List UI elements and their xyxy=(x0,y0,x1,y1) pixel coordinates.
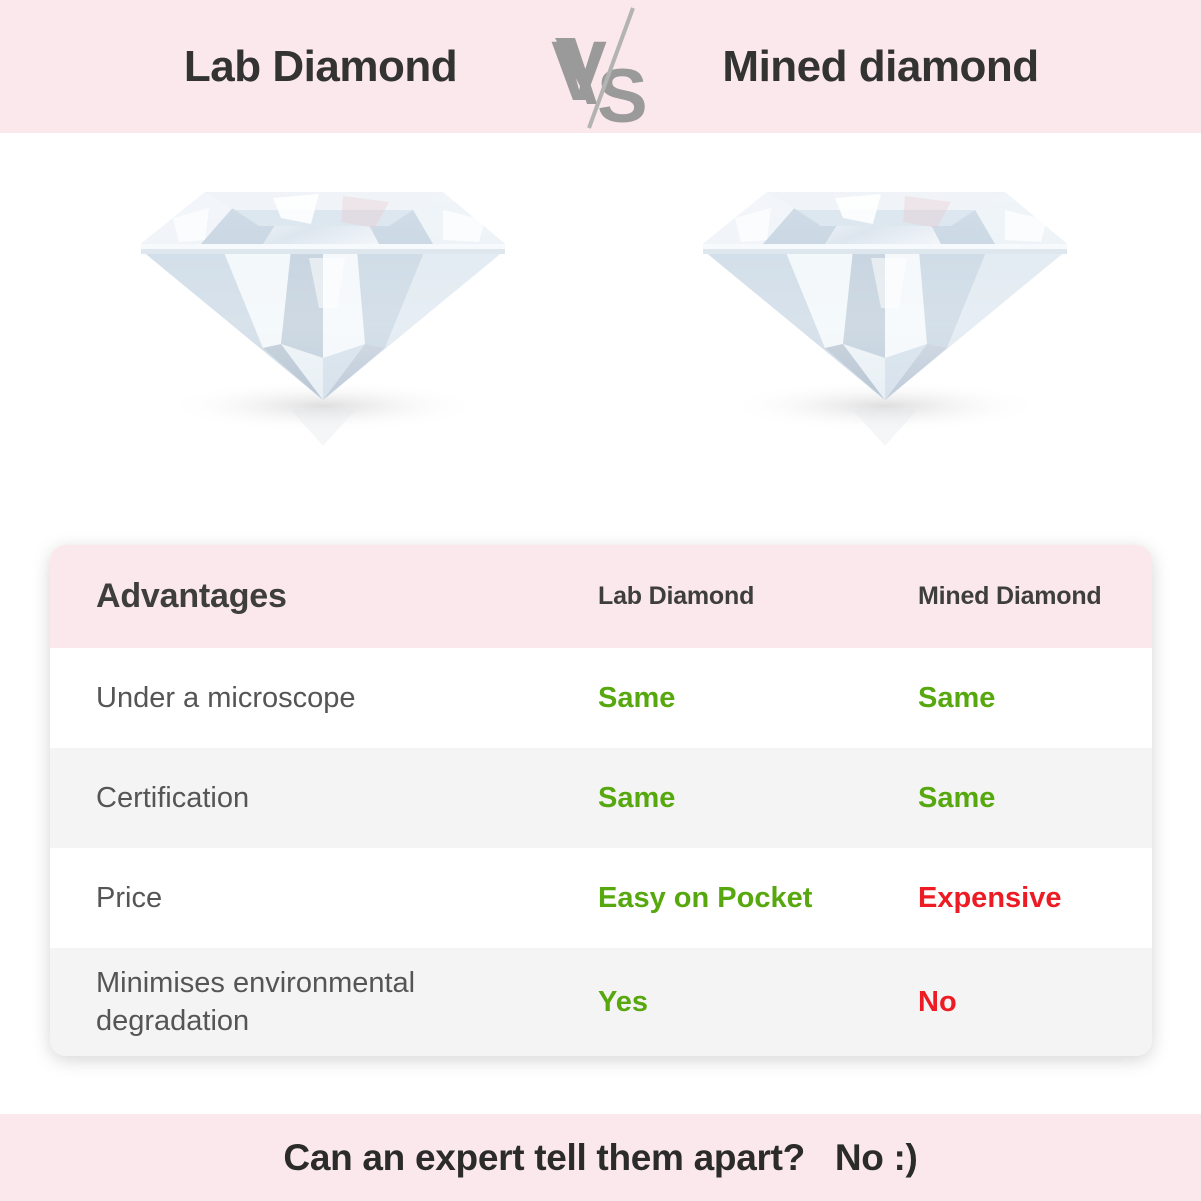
footer-question: Can an expert tell them apart? No :) xyxy=(283,1137,917,1179)
row-feature-label: Minimises environmental degradation xyxy=(50,964,541,1041)
row-mined-value: Same xyxy=(872,782,1152,815)
table-row: Minimises environmental degradation Yes … xyxy=(50,948,1152,1056)
svg-text:S: S xyxy=(597,54,648,133)
row-mined-value: Same xyxy=(872,682,1152,715)
row-mined-value: Expensive xyxy=(872,882,1152,915)
table-row: Price Easy on Pocket Expensive xyxy=(50,848,1152,948)
comparison-table: Advantages Lab Diamond Mined Diamond Und… xyxy=(50,545,1152,1056)
row-lab-value: Same xyxy=(541,682,872,715)
footer-band: Can an expert tell them apart? No :) xyxy=(0,1114,1201,1201)
table-row: Under a microscope Same Same xyxy=(50,648,1152,748)
infographic-page: Lab Diamond V S Mined diamond xyxy=(0,0,1201,1201)
table-header-row: Advantages Lab Diamond Mined Diamond xyxy=(50,545,1152,648)
column-header-mined-diamond: Mined Diamond xyxy=(872,582,1152,611)
row-feature-label: Certification xyxy=(50,779,541,817)
page-title-lab-diamond: Lab Diamond xyxy=(101,42,541,92)
row-mined-value: No xyxy=(872,986,1152,1019)
diamond-image-area xyxy=(0,133,1201,533)
row-lab-value: Same xyxy=(541,782,872,815)
row-lab-value: Yes xyxy=(541,986,872,1019)
lab-diamond-image xyxy=(113,158,533,468)
row-feature-label: Under a microscope xyxy=(50,679,541,717)
column-header-lab-diamond: Lab Diamond xyxy=(541,582,872,611)
header-band: Lab Diamond V S Mined diamond xyxy=(0,0,1201,133)
versus-icon: V S xyxy=(541,0,661,133)
row-feature-label: Price xyxy=(50,879,541,917)
page-title-mined-diamond: Mined diamond xyxy=(661,42,1101,92)
column-header-advantages: Advantages xyxy=(50,577,541,616)
row-lab-value: Easy on Pocket xyxy=(541,882,872,915)
mined-diamond-image xyxy=(675,158,1095,468)
table-row: Certification Same Same xyxy=(50,748,1152,848)
